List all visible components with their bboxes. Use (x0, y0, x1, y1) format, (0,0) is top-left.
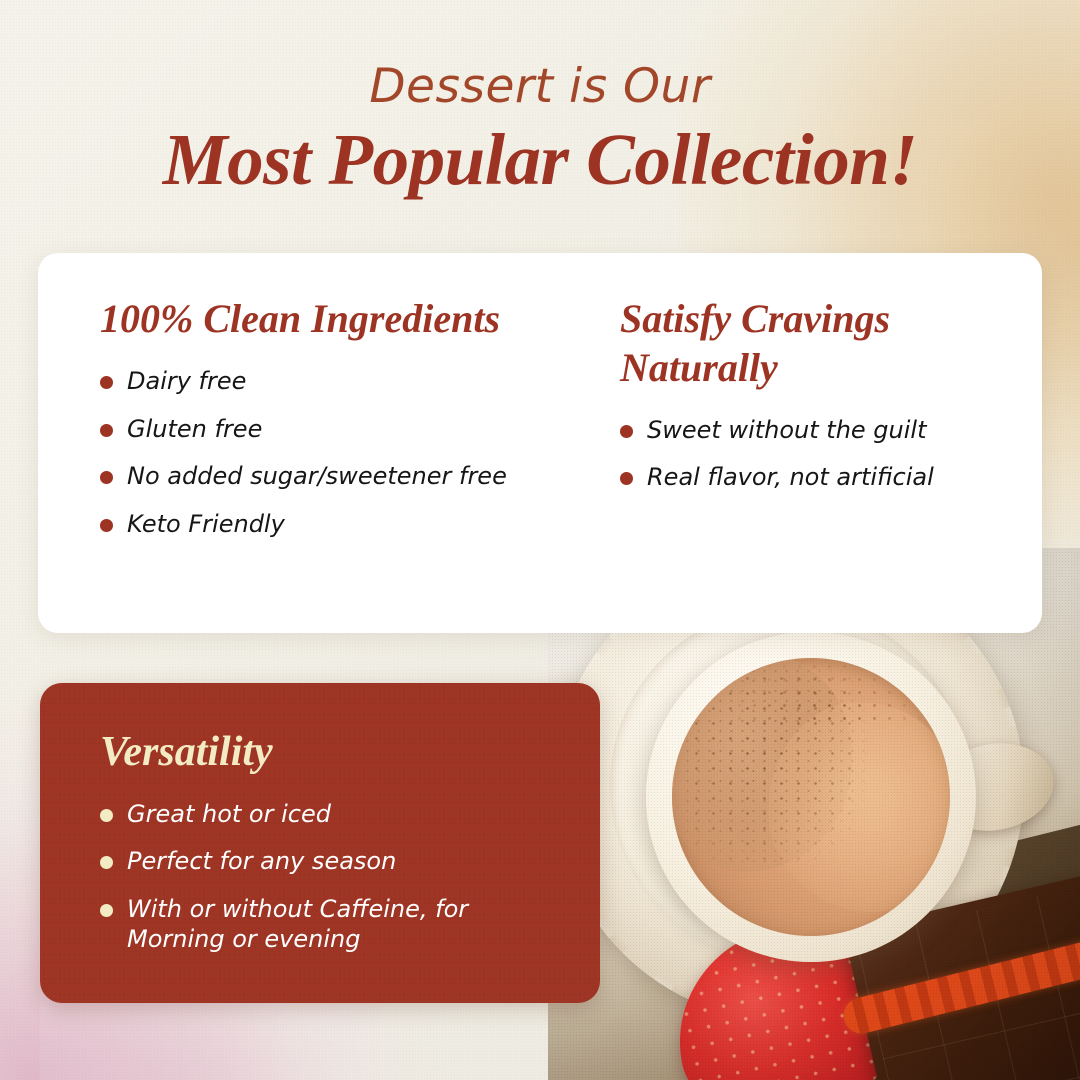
versatility-title: Versatility (100, 729, 600, 775)
list-item-label: Real flavor, not artificial (647, 462, 934, 493)
features-card: 100% Clean Ingredients Dairy free Gluten… (38, 253, 1042, 633)
bullet-dot-icon (100, 424, 113, 437)
coffee-cup-shape (646, 632, 976, 962)
list-item: Perfect for any season (100, 846, 600, 876)
list-item: Real flavor, not artificial (620, 462, 1020, 493)
bullet-dot-icon (100, 856, 113, 869)
list-item: Gluten free (100, 414, 570, 445)
versatility-list: Great hot or iced Perfect for any season… (100, 799, 600, 954)
foam-bubbles-rim (732, 660, 922, 720)
list-item-label: No added sugar/sweetener free (127, 461, 507, 492)
list-item-label: Dairy free (127, 366, 246, 397)
bullet-dot-icon (100, 809, 113, 822)
bullet-dot-icon (100, 471, 113, 484)
versatility-card: Versatility Great hot or iced Perfect fo… (40, 683, 600, 1003)
satisfy-cravings-list: Sweet without the guilt Real flavor, not… (620, 415, 1020, 493)
list-item-label: Sweet without the guilt (647, 415, 927, 446)
list-item-label: Great hot or iced (127, 799, 331, 829)
clean-ingredients-column: 100% Clean Ingredients Dairy free Gluten… (100, 295, 570, 557)
clean-ingredients-title: 100% Clean Ingredients (100, 295, 570, 344)
list-item: Sweet without the guilt (620, 415, 1020, 446)
headline-subtitle: Dessert is Our (0, 62, 1080, 111)
list-item: Great hot or iced (100, 799, 600, 829)
promo-graphic-canvas: Dessert is Our Most Popular Collection! … (0, 0, 1080, 1080)
list-item-label: With or without Caffeine, for Morning or… (127, 894, 477, 954)
clean-ingredients-list: Dairy free Gluten free No added sugar/sw… (100, 366, 570, 540)
bullet-dot-icon (620, 425, 633, 438)
bullet-dot-icon (100, 904, 113, 917)
list-item-label: Perfect for any season (127, 846, 396, 876)
list-item: Keto Friendly (100, 509, 570, 540)
headline-block: Dessert is Our Most Popular Collection! (0, 62, 1080, 201)
list-item: No added sugar/sweetener free (100, 461, 570, 492)
headline-title: Most Popular Collection! (0, 119, 1080, 201)
list-item-label: Keto Friendly (127, 509, 285, 540)
bullet-dot-icon (100, 376, 113, 389)
list-item: Dairy free (100, 366, 570, 397)
bullet-dot-icon (620, 472, 633, 485)
list-item: With or without Caffeine, for Morning or… (100, 894, 600, 954)
satisfy-cravings-title: Satisfy Cravings Naturally (620, 295, 1020, 393)
satisfy-cravings-column: Satisfy Cravings Naturally Sweet without… (620, 295, 1020, 510)
versatility-card-content: Versatility Great hot or iced Perfect fo… (40, 683, 600, 954)
list-item-label: Gluten free (127, 414, 262, 445)
bullet-dot-icon (100, 519, 113, 532)
coffee-surface (672, 658, 950, 936)
